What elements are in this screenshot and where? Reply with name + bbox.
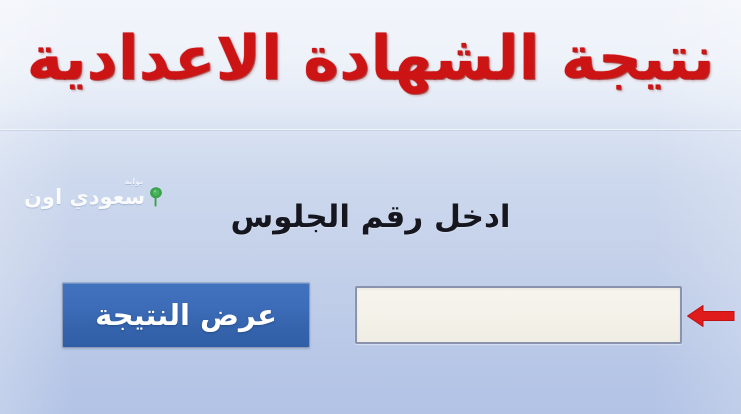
result-lookup-page: نتيجة الشهادة الاعدادية بوابة سعودي اون … [0,0,741,414]
page-title: نتيجة الشهادة الاعدادية [0,28,741,89]
page-header: نتيجة الشهادة الاعدادية [0,0,741,130]
seat-number-label: ادخل رقم الجلوس [0,202,741,233]
show-result-button-label: عرض النتيجة [95,301,277,330]
seat-number-input[interactable] [355,286,682,344]
show-result-button[interactable]: عرض النتيجة [62,282,310,348]
arrow-left-icon [686,301,736,331]
form-controls-row: عرض النتيجة [0,282,741,354]
result-lookup-form: ادخل رقم الجلوس عرض النتيجة [0,130,741,414]
